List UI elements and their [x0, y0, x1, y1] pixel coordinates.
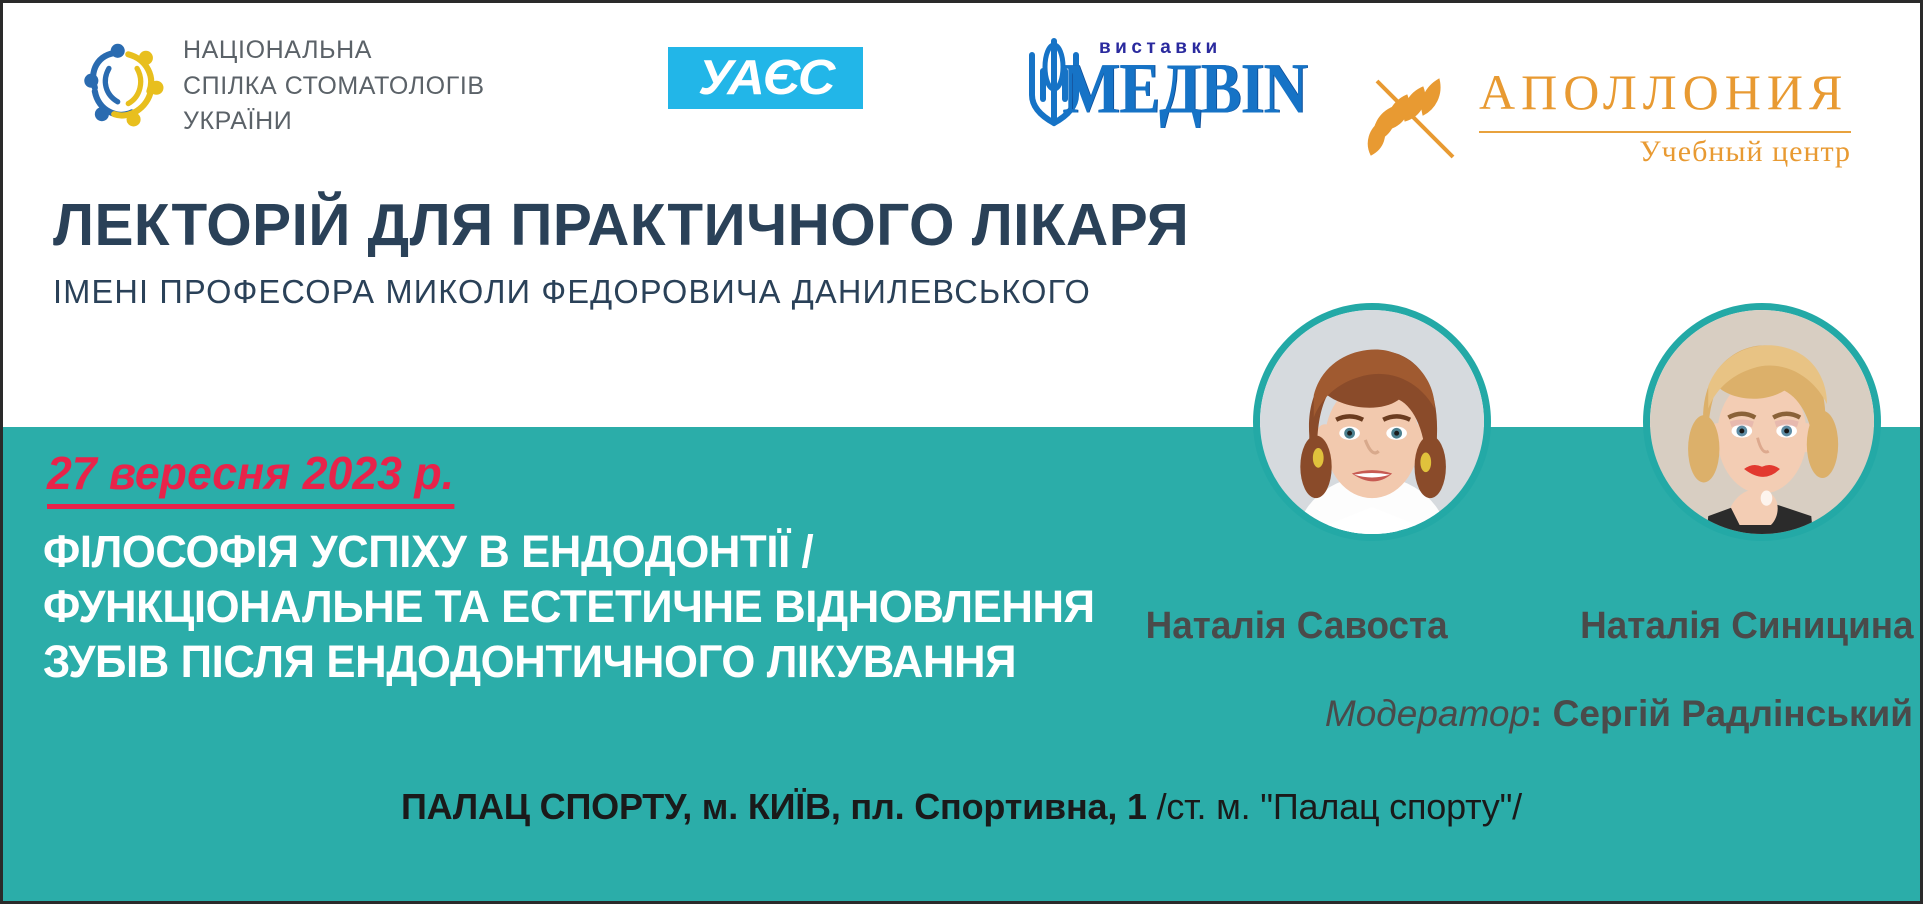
- nssu-logo-text: НАЦІОНАЛЬНА СПІЛКА СТОМАТОЛОГІВ УКРАЇНИ: [183, 33, 485, 140]
- palm-leaf-icon: [1361, 71, 1461, 166]
- uaec-logo-text: УАЄС: [698, 54, 833, 103]
- speaker-name-2: Наталія Синицина: [1580, 605, 1913, 648]
- speaker-names-row: Наталія Савоста Наталія Синицина: [1141, 605, 1919, 648]
- nssu-logo[interactable]: НАЦІОНАЛЬНА СПІЛКА СТОМАТОЛОГІВ УКРАЇНИ: [79, 33, 485, 140]
- medvin-logo[interactable]: виставки МЕДВІN: [1023, 33, 1243, 138]
- apollonia-logo[interactable]: АПОЛЛОНИЯ Учебный центр: [1361, 65, 1851, 175]
- lecture-title-line-1: ФІЛОСОФІЯ УСПІХУ В ЕНДОДОНТІЇ /: [43, 525, 1095, 580]
- venue-main-text: ПАЛАЦ СПОРТУ, м. КИЇВ, пл. Спортивна, 1: [401, 786, 1147, 827]
- speaker-name-1: Наталія Савоста: [1146, 605, 1448, 648]
- logo-row: НАЦІОНАЛЬНА СПІЛКА СТОМАТОЛОГІВ УКРАЇНИ …: [3, 3, 1920, 203]
- page-subtitle: ІМЕНІ ПРОФЕСОРА МИКОЛИ ФЕДОРОВИЧА ДАНИЛЕ…: [53, 275, 1183, 310]
- event-date: 27 вересня 2023 р.: [47, 446, 454, 509]
- moderator-label: Модератор: [1325, 693, 1530, 734]
- medvin-word-text: МЕДВІN: [1062, 53, 1307, 125]
- moderator-separator: :: [1530, 693, 1553, 734]
- page-title: ЛЕКТОРІЙ ДЛЯ ПРАКТИЧНОГО ЛІКАРЯ: [53, 195, 1189, 257]
- speaker-photo-synytsyna: [1643, 303, 1881, 541]
- apollonia-name-text: АПОЛЛОНИЯ: [1479, 65, 1848, 120]
- apollonia-divider: [1479, 131, 1851, 133]
- uaec-logo[interactable]: УАЄС: [668, 47, 863, 109]
- apollonia-sub-text: Учебный центр: [1639, 135, 1851, 169]
- lecture-title-line-2: ФУНКЦІОНАЛЬНЕ ТА ЕСТЕТИЧНЕ ВІДНОВЛЕННЯ: [43, 580, 1095, 635]
- speaker-photo-savosta: [1253, 303, 1491, 541]
- moderator-name: Сергій Радлінський: [1553, 693, 1913, 734]
- avatar: [1260, 310, 1484, 534]
- headline-block: ЛЕКТОРІЙ ДЛЯ ПРАКТИЧНОГО ЛІКАРЯ ІМЕНІ ПР…: [53, 195, 1201, 310]
- people-circle-icon: [79, 40, 167, 132]
- venue-address: ПАЛАЦ СПОРТУ, м. КИЇВ, пл. Спортивна, 1 …: [3, 786, 1920, 828]
- event-banner: НАЦІОНАЛЬНА СПІЛКА СТОМАТОЛОГІВ УКРАЇНИ …: [0, 0, 1923, 904]
- lecture-title: ФІЛОСОФІЯ УСПІХУ В ЕНДОДОНТІЇ / ФУНКЦІОН…: [43, 525, 1095, 690]
- moderator-line: Модератор: Сергій Радлінський: [1325, 693, 1913, 735]
- venue-metro-text: /ст. м. "Палац спорту"/: [1147, 786, 1522, 827]
- avatar: [1650, 310, 1874, 534]
- lecture-title-line-3: ЗУБІВ ПІСЛЯ ЕНДОДОНТИЧНОГО ЛІКУВАННЯ: [43, 635, 1095, 690]
